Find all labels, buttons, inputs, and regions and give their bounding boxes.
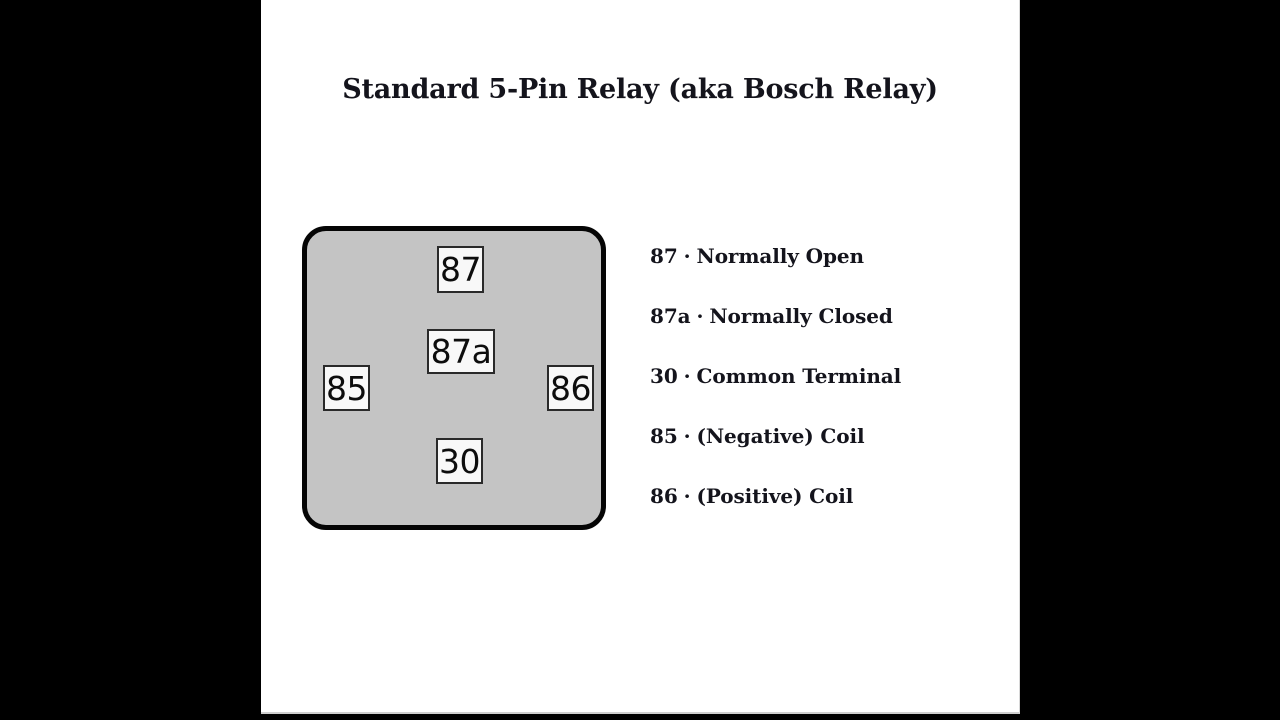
legend-item-86: 86 · (Positive) Coil: [650, 466, 1000, 526]
legend-separator: ·: [678, 244, 697, 268]
screen: Standard 5-Pin Relay (aka Bosch Relay) 8…: [0, 0, 1280, 720]
relay-pin-85: 85: [323, 365, 370, 411]
legend-separator: ·: [678, 364, 697, 388]
legend-pin-number: 86: [650, 484, 678, 508]
legend-description: Normally Open: [697, 244, 864, 268]
relay-pin-86: 86: [547, 365, 594, 411]
legend-description: Normally Closed: [709, 304, 892, 328]
legend-separator: ·: [678, 424, 697, 448]
legend-item-87a: 87a · Normally Closed: [650, 286, 1000, 346]
legend-item-85: 85 · (Negative) Coil: [650, 406, 1000, 466]
legend-description: Common Terminal: [697, 364, 902, 388]
relay-pin-30: 30: [436, 438, 483, 484]
legend-description: (Positive) Coil: [697, 484, 854, 508]
legend-description: (Negative) Coil: [697, 424, 865, 448]
legend-item-87: 87 · Normally Open: [650, 226, 1000, 286]
legend-pin-number: 85: [650, 424, 678, 448]
legend-separator: ·: [678, 484, 697, 508]
legend-separator: ·: [691, 304, 710, 328]
pin-legend: 87 · Normally Open 87a · Normally Closed…: [650, 226, 1000, 526]
relay-body-diagram: 87 87a 85 86 30: [302, 226, 606, 530]
relay-pin-87: 87: [437, 246, 484, 293]
legend-pin-number: 87a: [650, 304, 691, 328]
document-page: Standard 5-Pin Relay (aka Bosch Relay) 8…: [261, 0, 1020, 714]
page-title: Standard 5-Pin Relay (aka Bosch Relay): [330, 74, 950, 105]
relay-pin-87a: 87a: [427, 329, 495, 374]
legend-pin-number: 30: [650, 364, 678, 388]
legend-pin-number: 87: [650, 244, 678, 268]
legend-item-30: 30 · Common Terminal: [650, 346, 1000, 406]
